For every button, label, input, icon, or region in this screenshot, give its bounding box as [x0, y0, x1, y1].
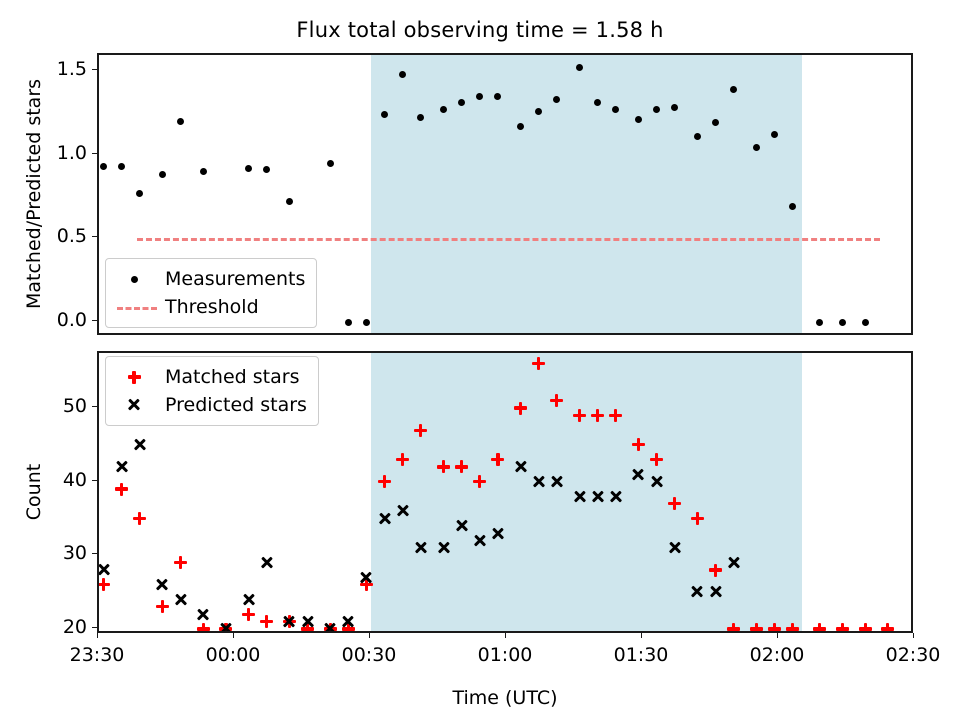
- x-tick-mark: [777, 633, 778, 638]
- predicted-stars-marker-icon: [115, 393, 159, 417]
- legend-item-predicted-stars[interactable]: Predicted stars: [115, 391, 307, 419]
- matched-stars-marker-icon: [115, 365, 159, 389]
- data-point: [476, 93, 483, 100]
- legend-item-threshold[interactable]: Threshold: [115, 293, 305, 321]
- x-tick-label: 02:00: [750, 644, 805, 666]
- x-tick-label: 23:30: [70, 644, 125, 666]
- top-panel-y-axis-label: Matched/Predicted stars: [23, 79, 45, 309]
- threshold-line-icon: [115, 295, 159, 319]
- legend-label-matched-stars: Matched stars: [159, 366, 299, 388]
- x-tick-mark: [641, 633, 642, 638]
- threshold-line: [137, 238, 880, 241]
- x-tick-label: 00:00: [206, 644, 261, 666]
- y-tick-mark: [92, 153, 97, 154]
- x-tick-label: 01:30: [614, 644, 669, 666]
- bottom-panel-legend: Matched stars Predicted stars: [105, 356, 319, 426]
- measurements-marker-icon: [115, 267, 159, 291]
- y-tick-label: 50: [45, 395, 87, 417]
- x-tick-mark: [913, 633, 914, 638]
- x-tick-label: 00:30: [342, 644, 397, 666]
- data-point: [363, 319, 370, 326]
- data-point: [694, 133, 701, 140]
- y-tick-mark: [92, 406, 97, 407]
- x-tick-mark: [505, 633, 506, 638]
- y-tick-label: 30: [45, 542, 87, 564]
- data-point: [286, 198, 293, 205]
- data-point: [327, 160, 334, 167]
- data-point: [517, 123, 524, 130]
- y-tick-mark: [92, 236, 97, 237]
- bottom-panel-x-axis-label: Time (UTC): [452, 687, 557, 709]
- top-panel-legend: Measurements Threshold: [105, 258, 317, 328]
- data-point: [136, 190, 143, 197]
- x-tick-mark: [233, 633, 234, 638]
- figure-title: Flux total observing time = 1.58 h: [0, 18, 960, 42]
- y-tick-mark: [92, 320, 97, 321]
- data-point: [245, 165, 252, 172]
- y-tick-label: 1.0: [45, 142, 87, 164]
- data-point: [839, 319, 846, 326]
- y-tick-mark: [92, 480, 97, 481]
- data-point: [118, 163, 125, 170]
- data-point: [730, 86, 737, 93]
- data-point: [159, 171, 166, 178]
- y-tick-label: 0.5: [45, 225, 87, 247]
- shaded-observing-window: [371, 55, 802, 333]
- data-point: [816, 319, 823, 326]
- data-point: [177, 118, 184, 125]
- y-tick-label: 0.0: [45, 309, 87, 331]
- y-tick-mark: [92, 627, 97, 628]
- x-tick-label: 02:30: [886, 644, 941, 666]
- bottom-panel-y-axis-label: Count: [23, 464, 45, 520]
- legend-label-measurements: Measurements: [159, 268, 305, 290]
- legend-label-predicted-stars: Predicted stars: [159, 394, 307, 416]
- data-point: [535, 108, 542, 115]
- x-tick-mark: [97, 633, 98, 638]
- y-tick-mark: [92, 69, 97, 70]
- figure-canvas: Flux total observing time = 1.58 h 0.00.…: [0, 0, 960, 720]
- legend-label-threshold: Threshold: [159, 296, 259, 318]
- data-point: [635, 116, 642, 123]
- x-tick-label: 01:00: [478, 644, 533, 666]
- data-point: [100, 163, 107, 170]
- legend-item-matched-stars[interactable]: Matched stars: [115, 363, 307, 391]
- y-tick-label: 1.5: [45, 58, 87, 80]
- y-tick-label: 40: [45, 469, 87, 491]
- y-tick-mark: [92, 553, 97, 554]
- data-point: [263, 166, 270, 173]
- data-point: [862, 319, 869, 326]
- shaded-observing-window: [371, 353, 802, 631]
- y-tick-label: 20: [45, 616, 87, 638]
- x-tick-mark: [369, 633, 370, 638]
- data-point: [771, 131, 778, 138]
- data-point: [345, 319, 352, 326]
- legend-item-measurements[interactable]: Measurements: [115, 265, 305, 293]
- data-point: [200, 168, 207, 175]
- data-point: [440, 106, 447, 113]
